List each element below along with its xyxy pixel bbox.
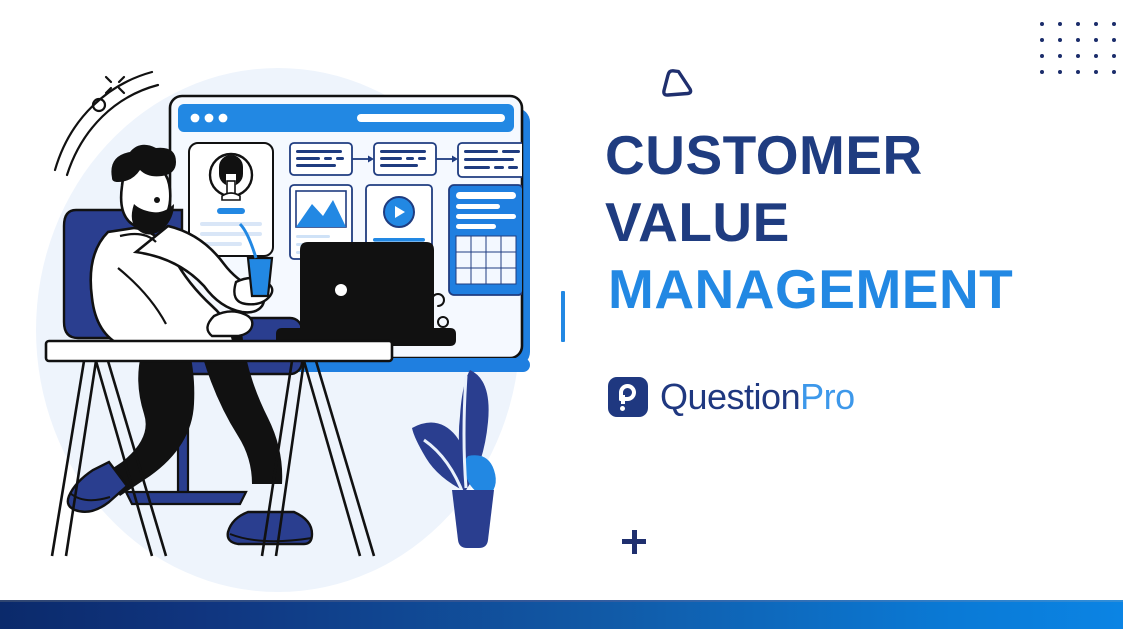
logo-word-primary: Question	[660, 376, 800, 417]
headline-block: CUSTOMER VALUE MANAGEMENT	[605, 128, 1105, 317]
page-title-line-1: CUSTOMER	[605, 128, 1105, 183]
illustration-person-at-desk	[0, 0, 560, 600]
vertical-accent-rule	[561, 291, 565, 342]
screen-profile-card	[189, 143, 273, 256]
banner-canvas: CUSTOMER VALUE MANAGEMENT QuestionPro	[0, 0, 1123, 629]
screen-table-card	[449, 185, 523, 295]
bottom-gradient-bar	[0, 602, 1123, 629]
page-title-line-2: VALUE	[605, 195, 1105, 250]
questionpro-p-mark-icon	[608, 377, 648, 417]
page-title-line-3: MANAGEMENT	[608, 262, 1108, 317]
screen-flow-boxes	[290, 143, 526, 177]
logo-word-secondary: Pro	[800, 376, 855, 417]
logo-wordmark: QuestionPro	[660, 379, 855, 415]
plus-icon	[622, 530, 646, 554]
shoe-right	[228, 512, 312, 544]
questionpro-logo[interactable]: QuestionPro	[608, 377, 855, 417]
dot-grid	[1040, 22, 1123, 86]
rounded-triangle-icon	[660, 66, 694, 100]
laptop	[276, 242, 456, 346]
